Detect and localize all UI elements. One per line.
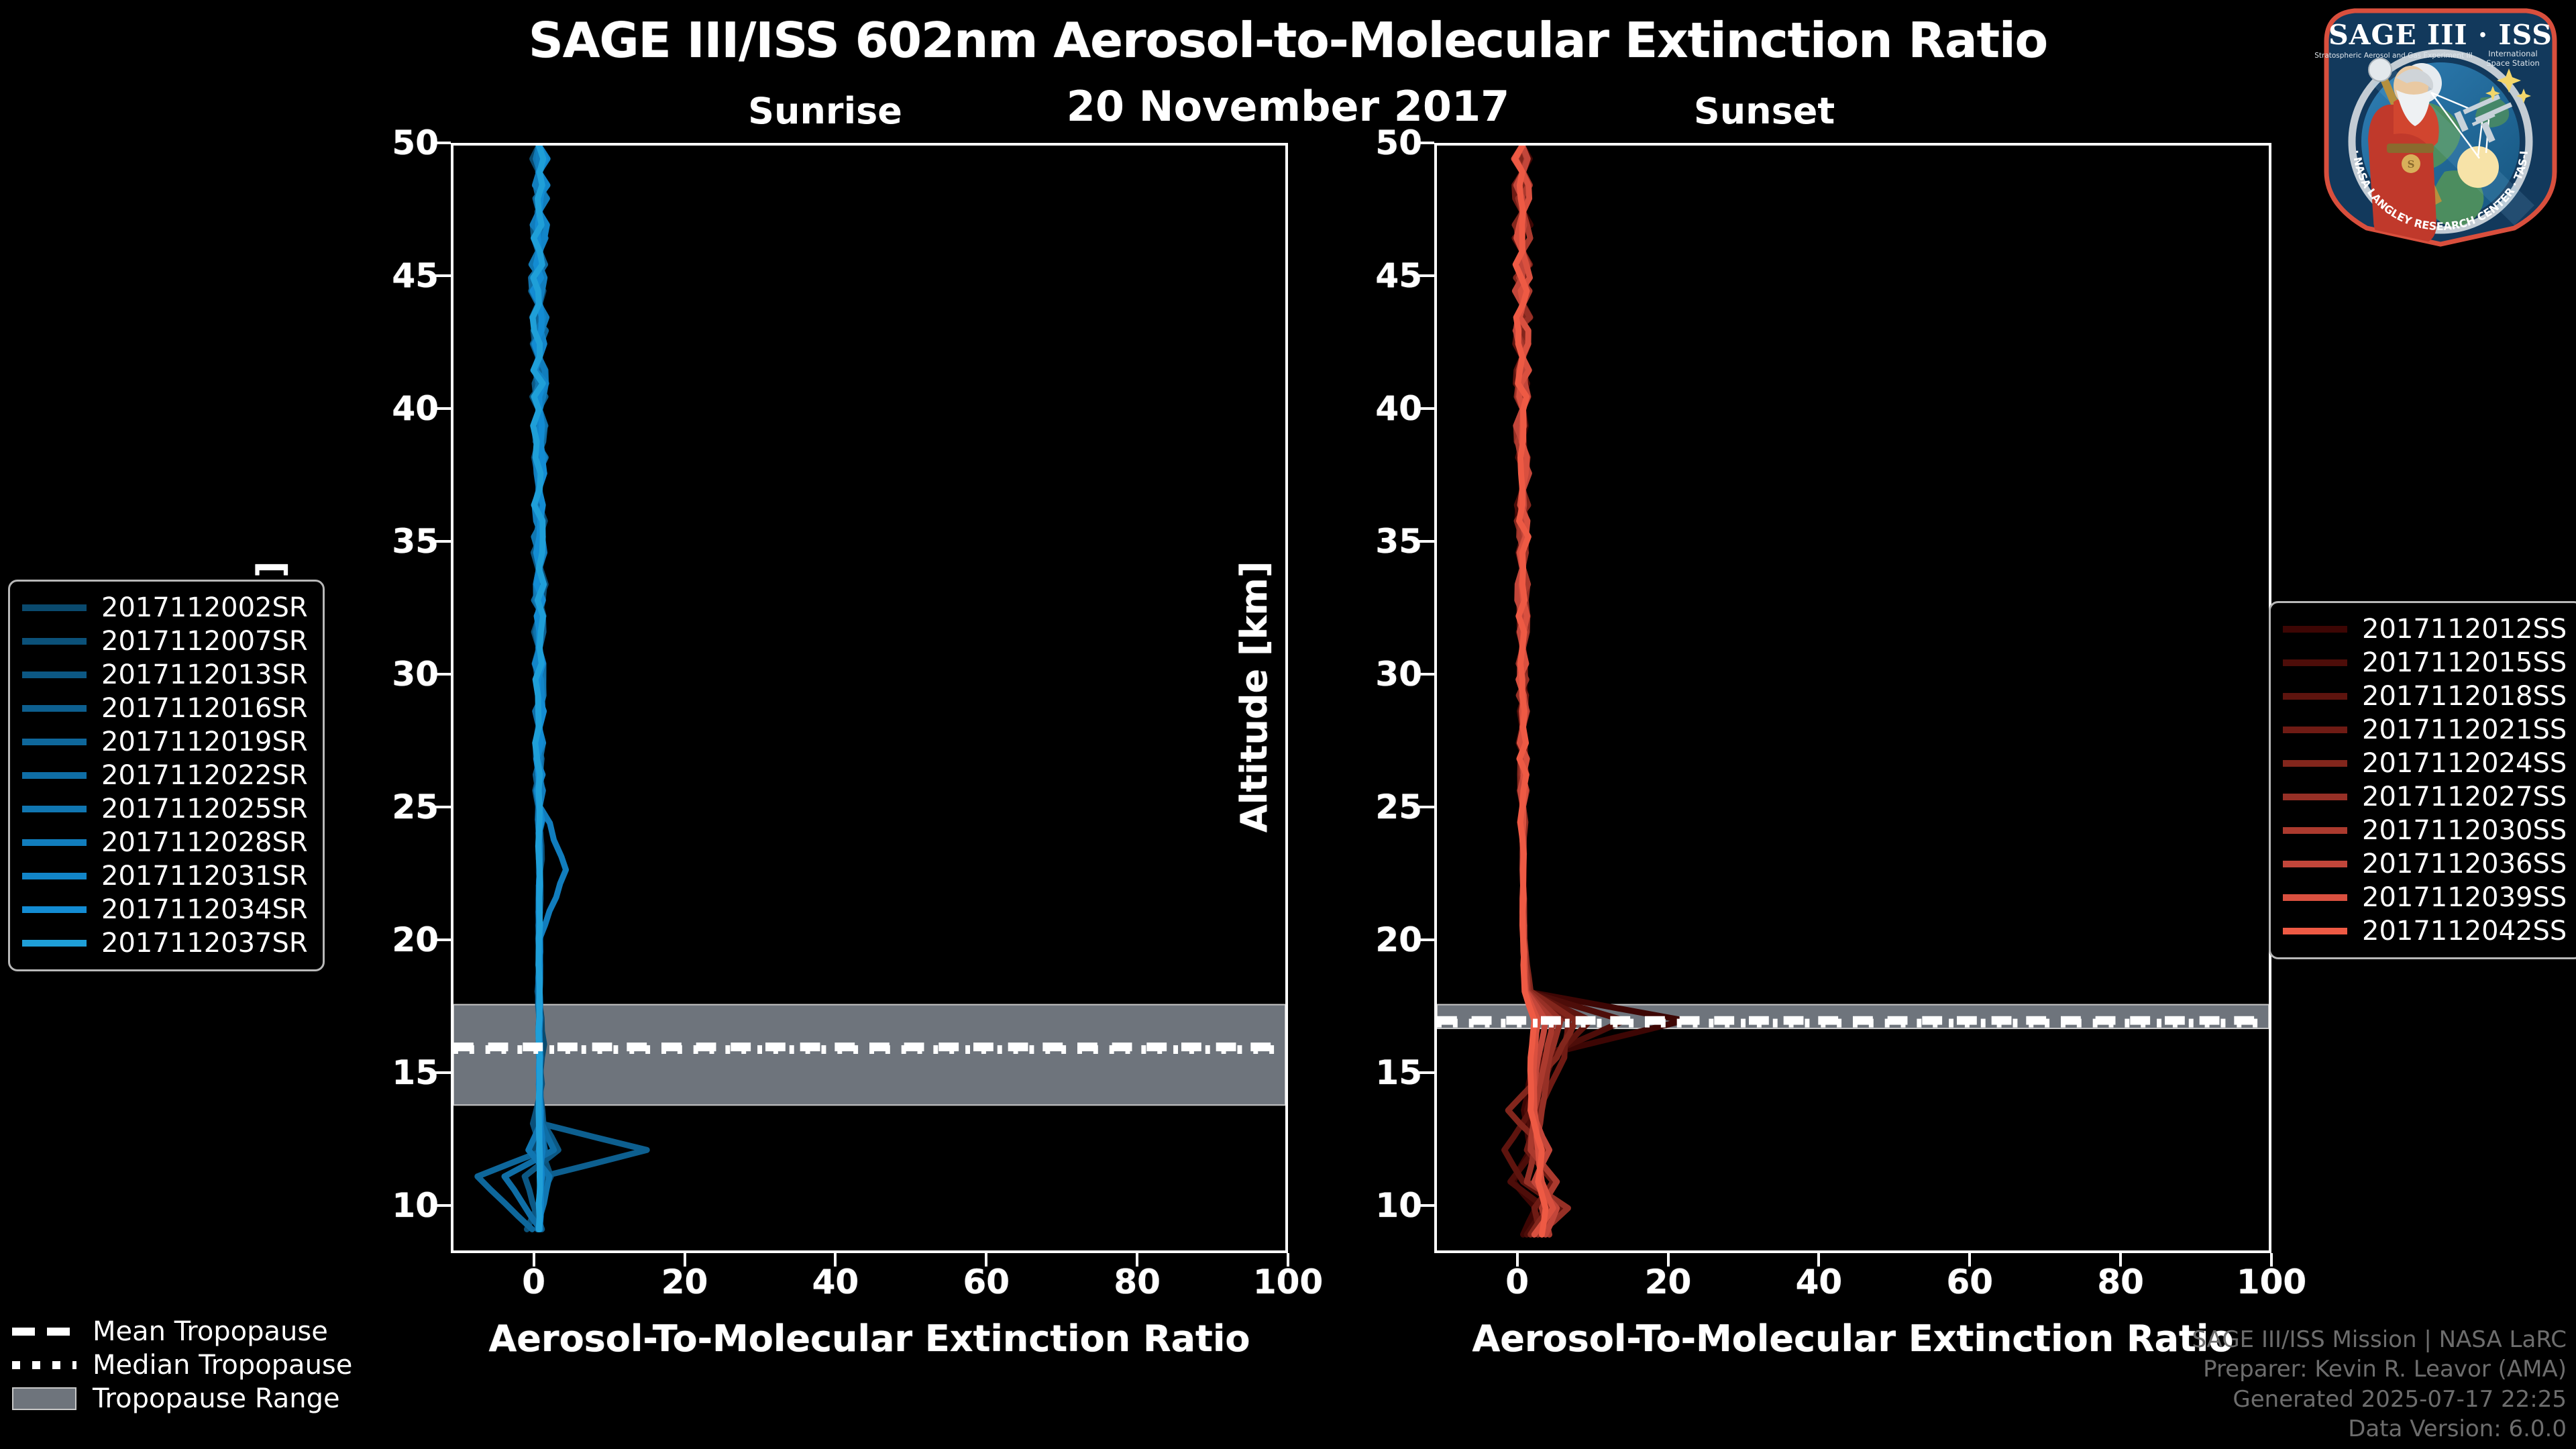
legend-item-median-tropopause: Median Tropopause — [12, 1348, 352, 1382]
legend-label: 2017112028SR — [101, 827, 308, 858]
dotted-line-icon — [12, 1361, 76, 1369]
y-axis-tick-mark — [435, 274, 451, 277]
legend-item-2017112034SR[interactable]: 2017112034SR — [22, 893, 308, 926]
y-axis-tick-label: 25 — [1288, 788, 1422, 826]
legend-item-2017112015SS[interactable]: 2017112015SS — [2283, 646, 2567, 680]
x-axis-tick-label: 40 — [768, 1263, 902, 1301]
y-axis-tick-label: 50 — [305, 123, 439, 162]
x-axis-tick-mark — [1817, 1253, 1820, 1267]
y-axis-title: Altitude [km] — [1233, 561, 1275, 833]
sunset-plot-canvas — [1437, 146, 2269, 1250]
sunset-panel-label: Sunset — [1623, 90, 1905, 132]
x-axis-tick-mark — [1516, 1253, 1519, 1267]
x-axis-tick-label: 80 — [2053, 1263, 2188, 1301]
legend-label: 2017112031SR — [101, 861, 308, 892]
legend-color-swatch — [2283, 693, 2347, 700]
legend-label: 2017112027SS — [2362, 782, 2567, 812]
y-axis-tick-mark — [435, 938, 451, 941]
legend-label: 2017112034SR — [101, 894, 308, 925]
y-axis-tick-mark — [1418, 1071, 1434, 1074]
x-axis-tick-mark — [834, 1253, 837, 1267]
patch-subtitle-right-1: International — [2488, 49, 2537, 58]
x-axis-tick-label: 100 — [2204, 1263, 2339, 1301]
x-axis-tick-label: 0 — [467, 1263, 601, 1301]
x-axis-tick-label: 0 — [1450, 1263, 1585, 1301]
legend-color-swatch — [2283, 794, 2347, 800]
x-axis-tick-mark — [985, 1253, 987, 1267]
legend-color-swatch — [22, 940, 87, 947]
sage-iii-iss-mission-patch-icon: S SAGE III · ISS Stratospheric Aerosol a… — [2313, 4, 2568, 251]
patch-title: SAGE III · ISS — [2328, 19, 2553, 51]
sunrise-plot-canvas — [453, 146, 1285, 1250]
y-axis-tick-mark — [435, 1204, 451, 1207]
legend-item-tropopause-range: Tropopause Range — [12, 1382, 352, 1415]
sunrise-panel-label: Sunrise — [684, 90, 966, 132]
credit-generated: Generated 2025-07-17 22:25 — [2192, 1385, 2567, 1414]
y-axis-tick-mark — [1418, 142, 1434, 144]
legend-label: 2017112013SR — [101, 659, 308, 690]
y-axis-tick-label: 10 — [305, 1186, 439, 1225]
x-axis-tick-mark — [684, 1253, 686, 1267]
y-axis-tick-label: 35 — [305, 522, 439, 561]
legend-label: 2017112018SS — [2362, 681, 2567, 712]
x-axis-tick-label: 80 — [1070, 1263, 1204, 1301]
x-axis-tick-label: 20 — [1601, 1263, 1735, 1301]
y-axis-tick-mark — [435, 806, 451, 808]
y-axis-tick-label: 45 — [1288, 256, 1422, 295]
legend-label: 2017112022SR — [101, 760, 308, 791]
legend-label: 2017112036SS — [2362, 849, 2567, 879]
legend-item-2017112002SR[interactable]: 2017112002SR — [22, 591, 308, 625]
legend-label: 2017112012SS — [2362, 614, 2567, 645]
y-axis-tick-mark — [1418, 673, 1434, 676]
y-axis-tick-label: 40 — [1288, 389, 1422, 428]
legend-label: 2017112016SR — [101, 693, 308, 724]
x-axis-tick-label: 20 — [618, 1263, 752, 1301]
legend-label: 2017112030SS — [2362, 815, 2567, 846]
credit-data-version: Data Version: 6.0.0 — [2192, 1414, 2567, 1444]
y-axis-tick-mark — [1418, 407, 1434, 410]
sunset-plot-panel — [1434, 143, 2271, 1253]
y-axis-tick-label: 15 — [305, 1053, 439, 1092]
legend-color-swatch — [22, 839, 87, 846]
legend-color-swatch — [2283, 727, 2347, 733]
legend-item-2017112016SR[interactable]: 2017112016SR — [22, 692, 308, 725]
y-axis-tick-label: 35 — [1288, 522, 1422, 561]
legend-item-2017112024SS[interactable]: 2017112024SS — [2283, 747, 2567, 780]
y-axis-tick-mark — [1418, 938, 1434, 941]
sunset-plot-frame — [1434, 143, 2271, 1253]
x-axis-tick-mark — [1968, 1253, 1971, 1267]
legend-color-swatch — [22, 873, 87, 879]
credits-block: SAGE III/ISS Mission | NASA LaRC Prepare… — [2192, 1325, 2567, 1444]
legend-label: 2017112002SR — [101, 592, 308, 623]
legend-item-2017112037SR[interactable]: 2017112037SR — [22, 926, 308, 960]
legend-color-swatch — [22, 906, 87, 913]
legend-item-2017112036SS[interactable]: 2017112036SS — [2283, 847, 2567, 881]
y-axis-tick-mark — [1418, 274, 1434, 277]
page-title: SAGE III/ISS 602nm Aerosol-to-Molecular … — [0, 12, 2576, 68]
legend-label-tropopause-range: Tropopause Range — [93, 1383, 340, 1414]
legend-label-mean-tropopause: Mean Tropopause — [93, 1316, 328, 1347]
legend-item-2017112039SS[interactable]: 2017112039SS — [2283, 881, 2567, 914]
legend-item-2017112021SS[interactable]: 2017112021SS — [2283, 713, 2567, 747]
y-axis-tick-label: 20 — [305, 920, 439, 959]
legend-item-2017112019SR[interactable]: 2017112019SR — [22, 725, 308, 759]
x-axis-tick-mark — [1287, 1253, 1289, 1267]
y-axis-tick-mark — [435, 1071, 451, 1074]
x-axis-tick-mark — [533, 1253, 535, 1267]
legend-item-mean-tropopause: Mean Tropopause — [12, 1315, 352, 1348]
legend-color-swatch — [22, 638, 87, 645]
legend-color-swatch — [2283, 861, 2347, 867]
legend-item-2017112007SR[interactable]: 2017112007SR — [22, 625, 308, 658]
legend-item-2017112031SR[interactable]: 2017112031SR — [22, 859, 308, 893]
x-axis-tick-label: 40 — [1752, 1263, 1886, 1301]
x-axis-tick-label: 60 — [919, 1263, 1053, 1301]
x-axis-title: Aerosol-To-Molecular Extinction Ratio — [1383, 1318, 2322, 1360]
legend-color-swatch — [2283, 626, 2347, 633]
x-axis-tick-mark — [1667, 1253, 1670, 1267]
legend-label: 2017112037SR — [101, 928, 308, 959]
legend-color-swatch — [22, 604, 87, 611]
sunset-legend: 2017112012SS2017112015SS2017112018SS2017… — [2269, 601, 2576, 959]
legend-item-2017112022SR[interactable]: 2017112022SR — [22, 759, 308, 792]
y-axis-tick-label: 50 — [1288, 123, 1422, 162]
x-axis-tick-label: 100 — [1221, 1263, 1355, 1301]
legend-label: 2017112024SS — [2362, 748, 2567, 779]
legend-label: 2017112007SR — [101, 626, 308, 657]
legend-label-median-tropopause: Median Tropopause — [93, 1350, 352, 1381]
sunrise-plot-panel — [451, 143, 1288, 1253]
legend-item-2017112028SR[interactable]: 2017112028SR — [22, 826, 308, 859]
sunrise-plot-frame — [451, 143, 1288, 1253]
y-axis-tick-mark — [435, 673, 451, 676]
legend-label: 2017112015SS — [2362, 647, 2567, 678]
legend-item-2017112025SR[interactable]: 2017112025SR — [22, 792, 308, 826]
filled-band-icon — [12, 1387, 76, 1410]
legend-label: 2017112021SS — [2362, 714, 2567, 745]
x-axis-title: Aerosol-To-Molecular Extinction Ratio — [400, 1318, 1339, 1360]
legend-color-swatch — [22, 772, 87, 779]
y-axis-tick-label: 30 — [305, 655, 439, 694]
y-axis-tick-mark — [1418, 540, 1434, 543]
legend-label: 2017112019SR — [101, 727, 308, 757]
sunrise-legend: 2017112002SR2017112007SR2017112013SR2017… — [8, 580, 325, 971]
y-axis-tick-label: 10 — [1288, 1186, 1422, 1225]
legend-item-2017112013SR[interactable]: 2017112013SR — [22, 658, 308, 692]
legend-label: 2017112039SS — [2362, 882, 2567, 913]
y-axis-tick-label: 15 — [1288, 1053, 1422, 1092]
x-axis-tick-mark — [1136, 1253, 1138, 1267]
legend-item-2017112012SS[interactable]: 2017112012SS — [2283, 612, 2567, 646]
y-axis-tick-label: 40 — [305, 389, 439, 428]
legend-color-swatch — [2283, 894, 2347, 901]
x-axis-tick-mark — [2270, 1253, 2273, 1267]
legend-color-swatch — [2283, 827, 2347, 834]
svg-text:S: S — [2408, 158, 2415, 170]
x-axis-tick-mark — [2119, 1253, 2122, 1267]
legend-color-swatch — [22, 705, 87, 712]
x-axis-tick-label: 60 — [1902, 1263, 2037, 1301]
y-axis-tick-label: 20 — [1288, 920, 1422, 959]
credit-mission: SAGE III/ISS Mission | NASA LaRC — [2192, 1325, 2567, 1354]
legend-item-2017112027SS[interactable]: 2017112027SS — [2283, 780, 2567, 814]
y-axis-tick-label: 45 — [305, 256, 439, 295]
legend-color-swatch — [2283, 659, 2347, 666]
y-axis-tick-mark — [1418, 1204, 1434, 1207]
legend-color-swatch — [22, 806, 87, 812]
patch-subtitle-right-2: Space Station — [2486, 58, 2540, 68]
y-axis-tick-mark — [1418, 806, 1434, 808]
legend-color-swatch — [2283, 760, 2347, 767]
legend-color-swatch — [22, 672, 87, 678]
tropopause-range-band — [453, 1005, 1285, 1106]
legend-item-2017112018SS[interactable]: 2017112018SS — [2283, 680, 2567, 713]
y-axis-tick-label: 30 — [1288, 655, 1422, 694]
legend-item-2017112030SS[interactable]: 2017112030SS — [2283, 814, 2567, 847]
legend-color-swatch — [22, 739, 87, 745]
y-axis-tick-label: 25 — [305, 788, 439, 826]
legend-label: 2017112042SS — [2362, 916, 2567, 947]
tropopause-legend: Mean Tropopause Median Tropopause Tropop… — [12, 1315, 352, 1415]
legend-item-2017112042SS[interactable]: 2017112042SS — [2283, 914, 2567, 948]
patch-subtitle-left: Stratospheric Aerosol and Gas Experiment… — [2314, 52, 2473, 60]
credit-preparer: Preparer: Kevin R. Leavor (AMA) — [2192, 1354, 2567, 1384]
y-axis-tick-mark — [435, 407, 451, 410]
legend-label: 2017112025SR — [101, 794, 308, 824]
legend-color-swatch — [2283, 928, 2347, 934]
y-axis-tick-mark — [435, 540, 451, 543]
y-axis-tick-mark — [435, 142, 451, 144]
dashed-line-icon — [12, 1328, 76, 1336]
